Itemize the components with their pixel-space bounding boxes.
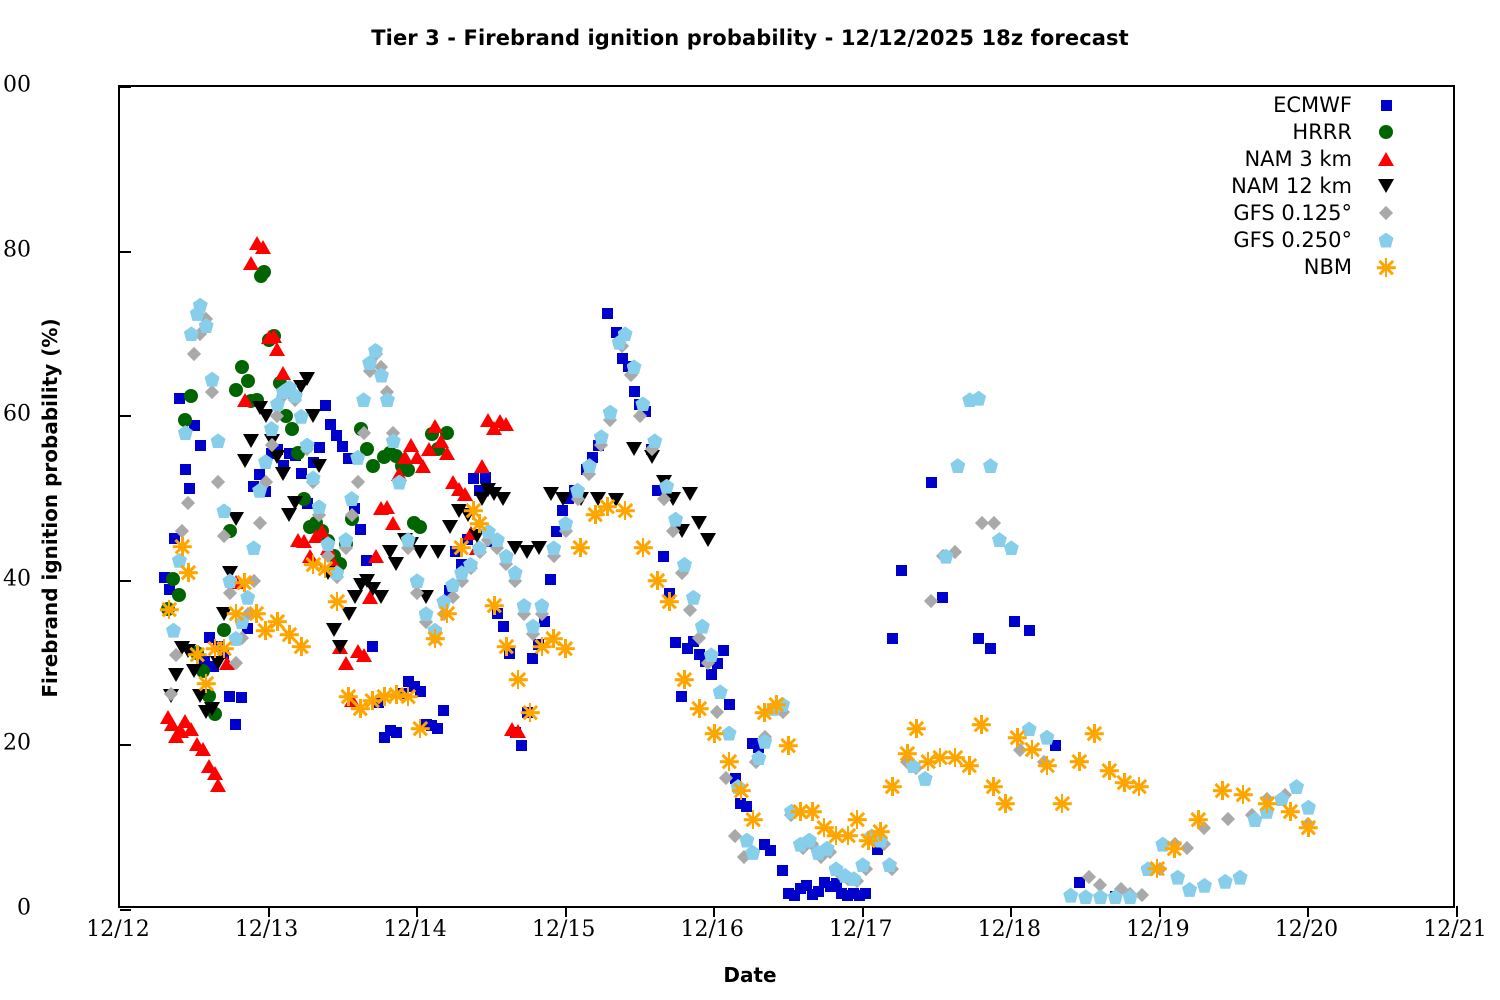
x-axis-tick (268, 906, 270, 917)
data-point (445, 577, 460, 592)
data-point (657, 491, 671, 505)
data-point (284, 448, 295, 459)
data-point (444, 585, 455, 596)
data-point (256, 621, 275, 640)
data-point (403, 537, 419, 551)
data-point (1260, 792, 1274, 806)
y-axis-tick (120, 909, 131, 911)
data-point (243, 434, 259, 448)
data-point (730, 773, 741, 784)
data-point (1070, 752, 1089, 771)
y-axis-tick-label: 100 (0, 73, 31, 98)
data-point (986, 516, 1000, 530)
data-point (302, 498, 313, 509)
data-point (640, 406, 651, 417)
data-point (743, 810, 762, 829)
data-point (290, 450, 301, 461)
data-point (189, 420, 200, 431)
data-point (197, 674, 216, 693)
data-point (1009, 616, 1020, 627)
data-point (223, 524, 237, 538)
x-axis-tick-label: 12/19 (1078, 917, 1238, 942)
data-point (469, 541, 485, 555)
data-point (644, 450, 660, 464)
data-point (163, 689, 179, 703)
data-point (1023, 740, 1042, 759)
data-point (882, 857, 897, 872)
data-point (480, 483, 496, 497)
data-point (627, 359, 642, 374)
data-point (192, 689, 208, 703)
data-point (428, 631, 442, 645)
data-point (329, 565, 344, 580)
data-point (646, 444, 657, 455)
data-point (294, 409, 309, 424)
data-point (327, 592, 346, 611)
data-point (1233, 870, 1248, 885)
data-point (366, 459, 380, 473)
data-point (246, 540, 261, 555)
data-point (474, 492, 490, 506)
data-point (401, 463, 415, 477)
data-point (486, 536, 497, 547)
data-point (178, 413, 192, 427)
data-point (327, 549, 341, 563)
data-point (777, 865, 788, 876)
data-point (266, 329, 282, 343)
data-point (656, 475, 672, 489)
data-point (470, 514, 489, 533)
data-point (243, 256, 259, 270)
data-point (457, 487, 473, 501)
data-point (660, 592, 679, 611)
data-point (587, 452, 598, 463)
data-point (525, 619, 540, 634)
data-point (1170, 870, 1185, 885)
data-point (1155, 837, 1170, 852)
data-point (498, 621, 509, 632)
data-point (590, 492, 606, 506)
data-point (321, 549, 335, 563)
data-point (931, 748, 950, 767)
data-point (706, 669, 717, 680)
data-point (350, 644, 366, 658)
data-point (1180, 841, 1194, 855)
data-point (183, 722, 199, 736)
data-point (859, 831, 878, 850)
data-point (594, 429, 609, 444)
data-point (410, 573, 425, 588)
data-point (704, 647, 719, 662)
data-point (464, 561, 478, 575)
legend-item-gfs-0-250[interactable]: GFS 0.250° (1150, 227, 1400, 254)
data-point (682, 487, 698, 501)
data-point (517, 607, 531, 621)
data-point (164, 717, 180, 731)
data-point (783, 888, 794, 899)
data-point (389, 449, 403, 463)
data-point (288, 388, 303, 403)
data-point (1301, 800, 1316, 815)
data-point (375, 687, 394, 706)
data-point (700, 656, 711, 667)
data-point (837, 868, 852, 883)
data-point (737, 849, 751, 863)
data-point (705, 724, 724, 743)
data-point (775, 705, 789, 719)
data-point (427, 623, 442, 638)
data-point (532, 637, 551, 656)
data-point (401, 541, 415, 555)
data-point (598, 497, 617, 516)
data-point (275, 366, 291, 380)
data-point (670, 637, 681, 648)
data-point (418, 590, 434, 604)
data-point (244, 394, 258, 408)
data-point (795, 883, 806, 894)
data-point (195, 742, 211, 756)
data-point (521, 703, 540, 722)
data-point (430, 545, 446, 559)
data-point (184, 389, 198, 403)
data-point (421, 442, 437, 456)
data-point (432, 723, 443, 734)
x-axis-tick (1159, 906, 1161, 917)
data-point (545, 574, 556, 585)
data-point (960, 756, 979, 775)
data-point (228, 575, 244, 589)
data-point (367, 641, 378, 652)
data-point (508, 565, 523, 580)
data-point (755, 703, 774, 722)
data-point (815, 818, 834, 837)
data-point (1182, 882, 1197, 897)
data-point (846, 871, 861, 886)
data-point (1213, 781, 1232, 800)
x-axis-tick (565, 906, 567, 917)
data-point (626, 442, 642, 456)
x-axis-tick-label: 12/14 (335, 917, 495, 942)
data-point (379, 500, 395, 514)
data-point (848, 888, 859, 899)
data-point (391, 467, 407, 481)
data-point (180, 644, 196, 658)
data-point (486, 421, 502, 435)
data-point (658, 551, 669, 562)
data-point (472, 545, 486, 559)
data-point (455, 574, 469, 588)
data-point (1037, 756, 1056, 775)
data-point (195, 440, 206, 451)
legend-item-nam-12-km[interactable]: NAM 12 km (1150, 173, 1400, 200)
data-point (543, 487, 559, 501)
data-point (675, 670, 694, 689)
y-axis-tick-label: 40 (0, 566, 31, 591)
data-point (652, 485, 663, 496)
data-point (1082, 870, 1096, 884)
data-point (351, 699, 370, 718)
data-point (547, 549, 561, 563)
data-point (213, 641, 224, 652)
data-point (293, 380, 309, 394)
data-point (735, 798, 746, 809)
data-point (674, 524, 690, 538)
data-point (1114, 882, 1128, 896)
data-point (282, 380, 297, 395)
data-point (854, 890, 865, 901)
data-point (701, 656, 715, 670)
data-point (516, 740, 527, 751)
data-point (379, 732, 390, 743)
data-point (368, 549, 384, 563)
data-point (189, 737, 205, 751)
data-point (258, 454, 273, 469)
data-point (452, 538, 471, 557)
data-point (615, 339, 629, 353)
data-point (186, 664, 202, 678)
data-point (278, 460, 289, 471)
data-point (1013, 742, 1027, 756)
data-point (276, 384, 291, 399)
data-point (975, 516, 989, 530)
data-point (1108, 889, 1123, 904)
data-point (1274, 791, 1289, 806)
data-point (647, 433, 662, 448)
data-point (287, 496, 303, 510)
data-point (168, 729, 184, 743)
legend-item-gfs-0-125[interactable]: GFS 0.125° (1150, 200, 1400, 227)
data-point (413, 520, 427, 534)
data-point (499, 557, 513, 571)
data-point (386, 426, 400, 440)
data-point (724, 699, 735, 710)
data-point (446, 590, 460, 604)
data-point (533, 639, 544, 650)
data-point (691, 516, 707, 530)
data-point (950, 458, 965, 473)
data-point (873, 833, 888, 848)
data-point (728, 829, 742, 843)
data-point (1052, 794, 1071, 813)
data-point (276, 389, 290, 403)
data-point (380, 392, 395, 407)
data-point (602, 308, 613, 319)
legend-item-ecmwf[interactable]: ECMWF (1150, 92, 1400, 119)
data-point (759, 839, 770, 850)
data-point (308, 529, 324, 543)
data-point (415, 686, 426, 697)
data-point (181, 496, 195, 510)
data-point (237, 454, 253, 468)
data-point (163, 687, 177, 701)
data-point (730, 779, 745, 794)
data-point (474, 485, 485, 496)
data-point (361, 555, 372, 566)
data-point (972, 715, 991, 734)
data-point (616, 501, 635, 520)
data-point (555, 492, 571, 506)
data-point (971, 391, 986, 406)
data-point (802, 833, 817, 848)
data-point (184, 326, 199, 341)
data-point (235, 573, 254, 592)
data-point (178, 425, 193, 440)
data-point (240, 590, 255, 605)
data-point (868, 833, 882, 847)
data-point (504, 722, 520, 736)
data-point (308, 457, 319, 468)
y-axis-tick (120, 86, 131, 88)
data-point (304, 555, 323, 574)
y-axis-tick (120, 415, 131, 417)
y-axis-tick-label: 0 (0, 896, 31, 921)
data-point (992, 532, 1007, 547)
data-point (368, 343, 383, 358)
x-axis-tick-label: 12/21 (1375, 917, 1500, 942)
data-point (526, 627, 540, 641)
data-point (350, 450, 365, 465)
data-point (349, 503, 360, 514)
y-axis-tick (120, 251, 131, 253)
data-point (357, 426, 371, 440)
legend-item-hrrr[interactable]: HRRR (1150, 119, 1400, 146)
data-point (593, 440, 604, 451)
data-point (665, 492, 681, 506)
data-point (485, 596, 504, 615)
data-point (668, 512, 683, 527)
data-point (412, 545, 428, 559)
data-point (305, 409, 321, 423)
legend-item-nam-3-km[interactable]: NAM 3 km (1150, 146, 1400, 173)
data-point (341, 607, 357, 621)
data-point (747, 738, 758, 749)
data-point (937, 592, 948, 603)
data-point (801, 880, 812, 891)
data-point (539, 616, 550, 627)
data-point (216, 607, 232, 621)
data-point (409, 450, 425, 464)
data-point (273, 376, 287, 390)
data-point (373, 501, 389, 515)
data-point (805, 837, 819, 851)
data-point (312, 499, 327, 514)
data-point (249, 236, 265, 250)
data-point (823, 845, 837, 859)
data-point (1123, 889, 1138, 904)
data-point (544, 629, 563, 648)
y-axis-tick-label: 80 (0, 237, 31, 262)
data-point (462, 534, 473, 545)
data-point (291, 446, 305, 460)
data-point (363, 691, 382, 710)
data-point (718, 645, 729, 656)
data-point (344, 491, 359, 506)
data-point (472, 540, 487, 555)
legend-label: GFS 0.250° (1233, 227, 1352, 254)
data-point (374, 368, 389, 383)
data-point (351, 475, 365, 489)
data-point (767, 695, 786, 714)
data-point (480, 472, 491, 483)
data-point (204, 702, 220, 716)
data-point (1168, 837, 1182, 851)
data-point (180, 464, 191, 475)
data-point (187, 347, 201, 361)
data-point (490, 541, 504, 555)
data-point (222, 573, 237, 588)
data-point (320, 541, 336, 555)
data-point (169, 648, 183, 662)
data-point (206, 639, 225, 658)
data-point (766, 701, 781, 716)
data-point (380, 384, 394, 398)
data-point (202, 689, 216, 703)
y-axis-tick-label: 60 (0, 402, 31, 427)
legend-item-nbm[interactable]: NBM (1150, 254, 1400, 281)
data-point (339, 537, 353, 551)
data-point (463, 557, 478, 572)
data-point (469, 529, 485, 543)
data-point (1130, 777, 1149, 796)
data-point (659, 479, 674, 494)
chart-title: Tier 3 - Firebrand ignition probability … (0, 26, 1500, 50)
data-point (793, 837, 808, 852)
data-point (172, 588, 186, 602)
data-point (985, 643, 996, 654)
data-point (1123, 886, 1137, 900)
data-point (570, 491, 584, 505)
data-point (161, 602, 175, 616)
data-point (199, 312, 213, 326)
data-point (234, 614, 249, 629)
data-point (403, 438, 419, 452)
data-point (356, 392, 371, 407)
data-point (426, 720, 437, 731)
data-point (1218, 874, 1233, 889)
data-point (666, 524, 680, 538)
data-point (362, 590, 378, 604)
data-point (306, 475, 320, 489)
data-point (563, 493, 574, 504)
data-point (1100, 761, 1119, 780)
data-point (1085, 724, 1104, 743)
y-axis-tick-label: 20 (0, 731, 31, 756)
data-point (1004, 540, 1019, 555)
data-point (410, 586, 424, 600)
data-point (339, 687, 358, 706)
data-point (229, 656, 243, 670)
legend-label: NBM (1304, 254, 1352, 281)
data-point (309, 516, 323, 530)
data-point (175, 524, 189, 538)
data-point (199, 318, 214, 333)
data-point (451, 482, 467, 496)
data-point (688, 636, 699, 647)
data-point (719, 771, 733, 785)
data-point (535, 607, 549, 621)
data-point (320, 536, 335, 551)
data-point (509, 670, 528, 689)
data-point (173, 724, 189, 738)
data-point (676, 691, 687, 702)
data-point (254, 469, 265, 480)
data-point (765, 845, 776, 856)
data-point (608, 493, 624, 507)
data-point (436, 594, 451, 609)
data-point (924, 594, 938, 608)
data-point (887, 633, 898, 644)
data-point (674, 565, 688, 579)
